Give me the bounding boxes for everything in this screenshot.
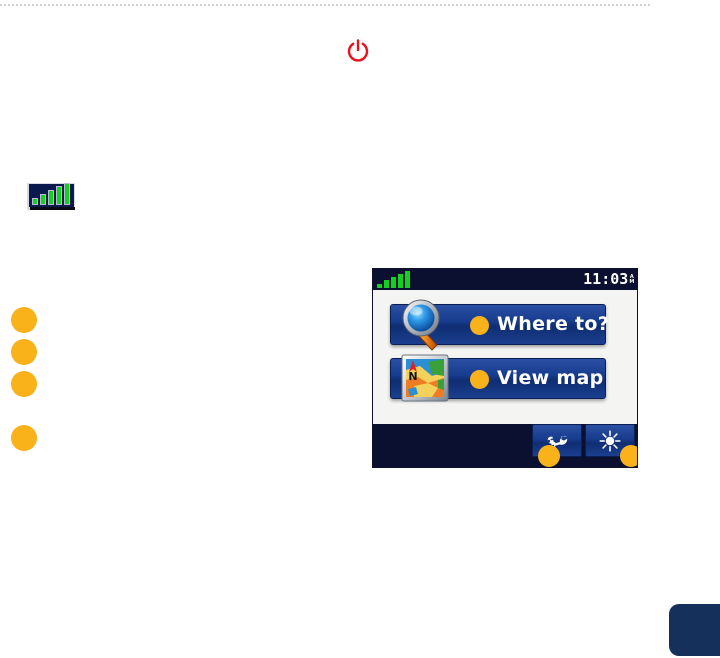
page-top-rule xyxy=(0,4,652,6)
power-icon xyxy=(347,39,369,63)
where-to-button[interactable]: Where to? xyxy=(390,304,606,345)
satellite-signal-strength-icon xyxy=(27,183,75,210)
signal-bar-5 xyxy=(64,183,70,205)
signal-icon-shadow xyxy=(30,207,75,210)
signal-bar-4 xyxy=(56,186,62,205)
signal-bar-5 xyxy=(405,271,410,288)
page-tab-marker xyxy=(669,604,720,656)
callout-marker-3 xyxy=(11,371,37,397)
signal-bars-group xyxy=(29,184,74,207)
callout-marker-1 xyxy=(11,307,37,333)
callout-bullet-view-map xyxy=(470,370,489,389)
gps-device-screen: 11:03 A M Where to? xyxy=(372,268,638,468)
device-status-bar: 11:03 A M xyxy=(373,269,637,290)
device-toolbar xyxy=(373,424,637,467)
svg-text:N: N xyxy=(408,370,417,383)
signal-bar-3 xyxy=(391,277,396,288)
signal-bar-3 xyxy=(48,190,54,205)
where-to-label: Where to? xyxy=(497,315,609,334)
meridiem-letter-bottom: M xyxy=(629,280,634,285)
magnifying-glass-icon xyxy=(397,295,459,357)
clock-time: 11:03 xyxy=(583,272,628,287)
view-map-label: View map xyxy=(497,369,604,388)
signal-bar-4 xyxy=(398,274,403,288)
callout-marker-2 xyxy=(11,339,37,365)
device-main-menu: Where to? xyxy=(373,290,637,424)
sun-icon xyxy=(599,430,621,452)
clock-meridiem: A M xyxy=(629,275,634,285)
satellite-signal-strength-icon[interactable] xyxy=(377,271,410,288)
callout-bullet-tools xyxy=(538,445,560,467)
callout-bullet-brightness xyxy=(620,445,638,467)
view-map-button[interactable]: View map xyxy=(390,358,606,399)
signal-bar-2 xyxy=(384,280,389,288)
callout-marker-4 xyxy=(11,425,37,451)
signal-bar-1 xyxy=(377,284,382,288)
signal-bar-2 xyxy=(40,194,46,205)
signal-bar-1 xyxy=(32,198,38,205)
status-clock[interactable]: 11:03 A M xyxy=(583,272,634,287)
callout-bullet-where-to xyxy=(470,316,489,335)
map-thumbnail-icon: N xyxy=(398,350,456,408)
